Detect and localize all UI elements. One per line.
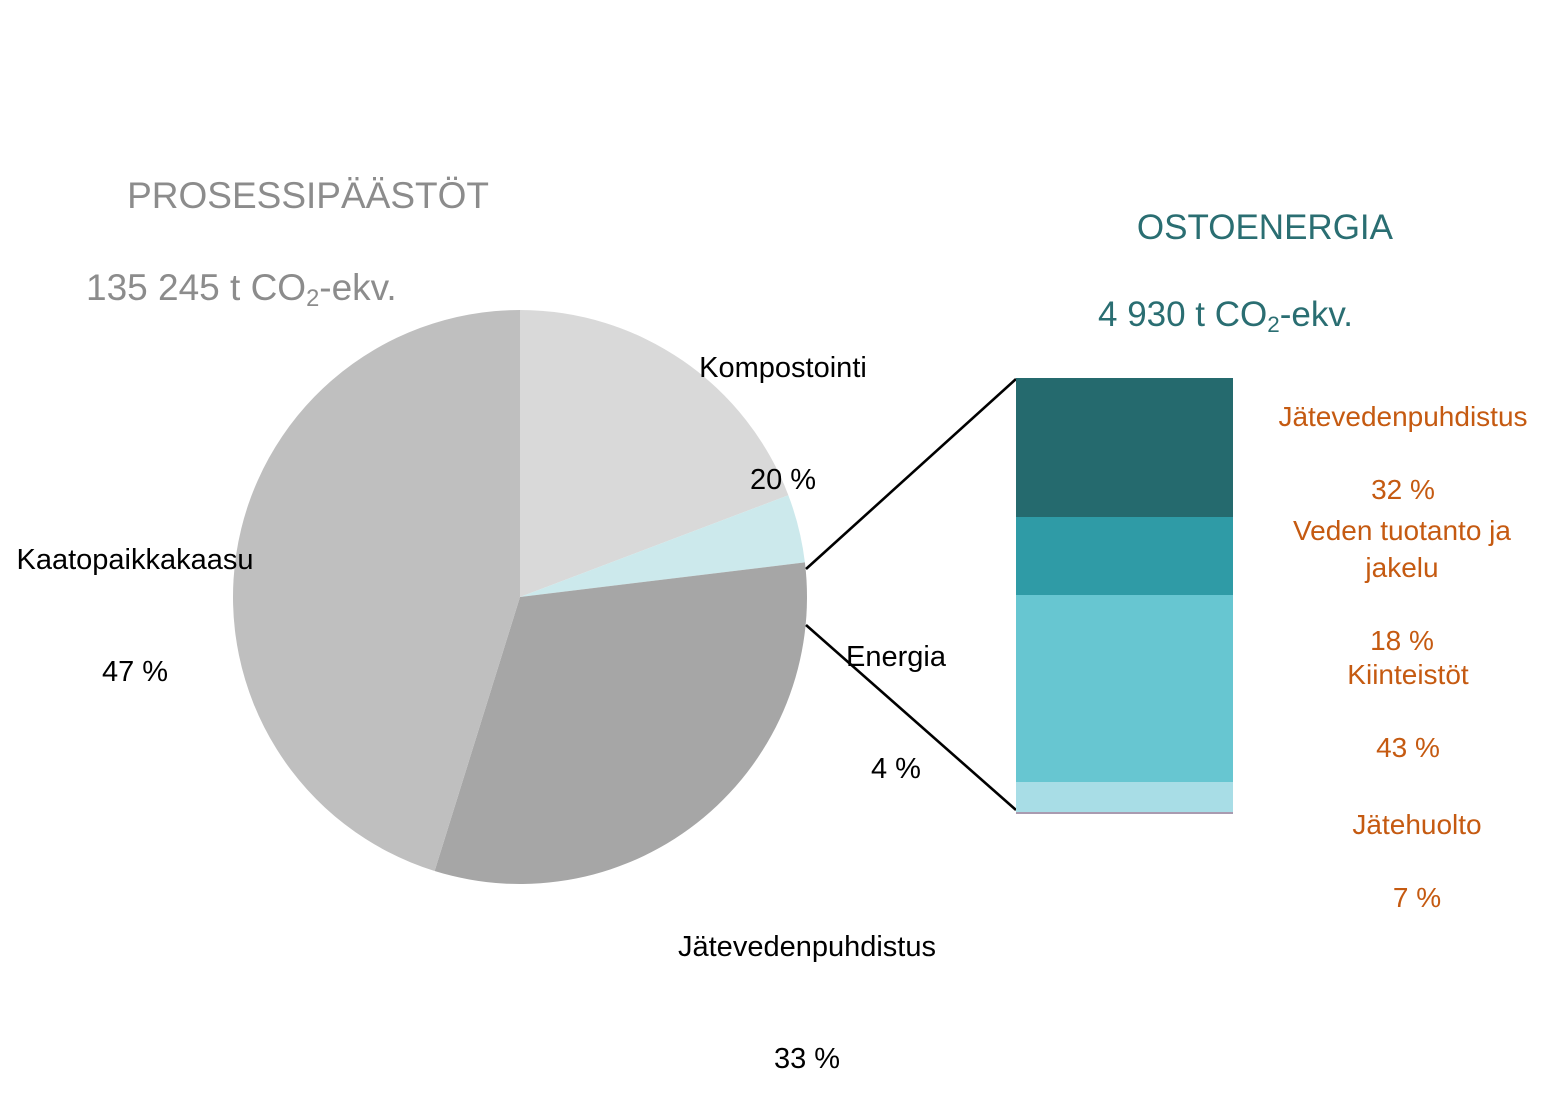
energy-total-amount: 4 930 t CO (1098, 295, 1267, 334)
process-total-amount: 135 245 t CO (86, 267, 306, 308)
process-total-suffix: -ekv. (319, 267, 396, 308)
pie-label-energia-name: Energia (812, 639, 980, 676)
bar-segment-kiinteist-t (1016, 595, 1233, 782)
pie-label-kompostointi: Kompostointi 20 % (652, 276, 914, 573)
bar-label-kiinteistot-value: 43 % (1253, 730, 1563, 766)
bar-label-jatehuolto: Jätehuolto 7 % (1273, 771, 1561, 953)
bar-label-jatehuolto-value: 7 % (1273, 880, 1561, 916)
process-total-line: 135 245 t CO2-ekv. (86, 265, 489, 311)
bar-segment-j-tehuolto (1016, 782, 1233, 812)
bar-segment-veden-tuotanto-ja-jakelu (1016, 517, 1233, 595)
process-title-line: PROSESSIPÄÄSTÖT (127, 175, 489, 216)
bar-label-jatehuolto-name: Jätehuolto (1273, 807, 1561, 843)
pie-label-kompostointi-name: Kompostointi (652, 350, 914, 387)
pie-label-kompostointi-value: 20 % (652, 462, 914, 499)
pie-label-kaatopaikkakaasu-value: 47 % (2, 654, 268, 691)
pie-label-kaatopaikkakaasu: Kaatopaikkakaasu 47 % (2, 468, 268, 765)
pie-label-energia-value: 4 % (812, 751, 980, 788)
bar-label-veden-tuotanto-name: Veden tuotanto ja jakelu (1247, 513, 1557, 586)
bar-label-kiinteistot-name: Kiinteistöt (1253, 657, 1563, 693)
pie-label-kaatopaikkakaasu-name: Kaatopaikkakaasu (2, 542, 268, 579)
pie-label-jatevedenpuhdistus: Jätevedenpuhdistus 33 % (650, 855, 964, 1104)
pie-label-energia: Energia 4 % (812, 565, 980, 862)
infographic-canvas: PROSESSIPÄÄSTÖT 135 245 t CO2-ekv. OSTOE… (0, 0, 1563, 1104)
pie-label-jatevedenpuhdistus-name: Jätevedenpuhdistus (650, 929, 964, 966)
process-co2-subscript: 2 (306, 286, 319, 312)
energy-total-suffix: -ekv. (1280, 295, 1353, 334)
energy-total-line: 4 930 t CO2-ekv. (1098, 293, 1393, 336)
energy-title-line: OSTOENERGIA (1137, 208, 1393, 247)
pie-label-jatevedenpuhdistus-value: 33 % (650, 1041, 964, 1078)
bar-segment-j-tevedenpuhdistus (1016, 378, 1233, 517)
bar-label-jatevedenpuhdistus-name: Jätevedenpuhdistus (1243, 399, 1563, 435)
purchased-energy-stacked-bar (1016, 378, 1233, 814)
energy-co2-subscript: 2 (1267, 312, 1279, 337)
